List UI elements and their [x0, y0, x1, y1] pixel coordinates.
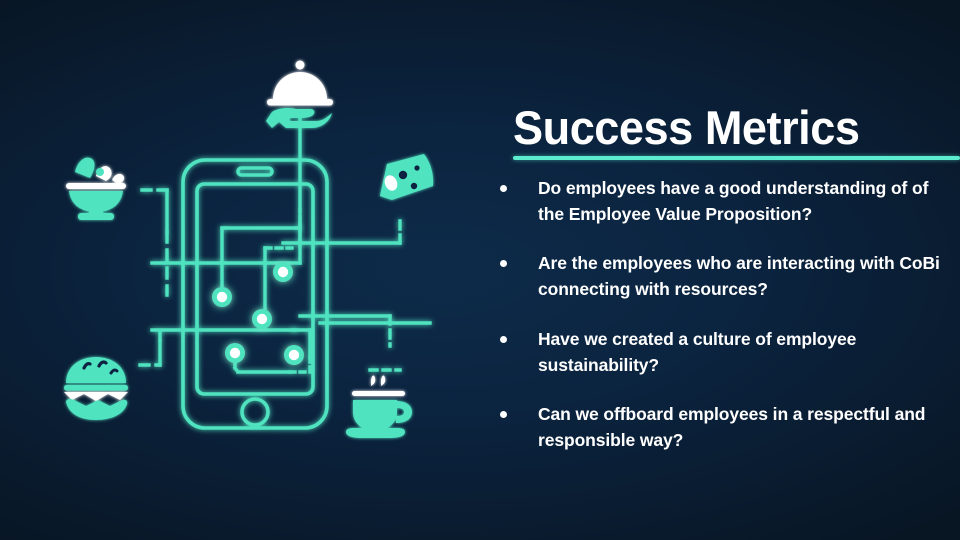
illustration-panel: [0, 0, 480, 540]
circuit-nodes: [212, 262, 304, 365]
circuit-node: [252, 309, 272, 329]
list-item: Are the employees who are interacting wi…: [480, 251, 960, 302]
bullet-dot-icon: [500, 336, 507, 343]
list-item-label: Have we created a culture of employee su…: [538, 327, 952, 378]
slide-canvas: Success Metrics Do employees have a good…: [0, 0, 960, 540]
title-underline-rule: [513, 156, 960, 160]
list-item: Can we offboard employees in a respectfu…: [480, 402, 960, 453]
smartphone-icon: [183, 160, 327, 428]
hamburger-icon: [64, 357, 128, 420]
list-item-label: Can we offboard employees in a respectfu…: [538, 402, 952, 453]
circuit-node: [273, 262, 293, 282]
circuit-node: [284, 345, 304, 365]
list-item: Have we created a culture of employee su…: [480, 327, 960, 378]
pizza-slice-icon: [380, 154, 433, 200]
list-item-label: Are the employees who are interacting wi…: [538, 251, 952, 302]
title-block: Success Metrics: [513, 104, 960, 151]
hand-icon: [266, 108, 332, 128]
coffee-cup-icon: [346, 375, 412, 438]
page-title: Success Metrics: [513, 104, 942, 151]
bullet-dot-icon: [500, 411, 507, 418]
list-item: Do employees have a good understanding o…: [480, 176, 960, 227]
list-item-label: Do employees have a good understanding o…: [538, 176, 952, 227]
cloche-serving-dome-icon: [266, 61, 333, 129]
phone-outer-frame: [183, 160, 327, 428]
bullet-list: Do employees have a good understanding o…: [480, 176, 960, 478]
bullet-dot-icon: [500, 185, 507, 192]
salad-bowl-icon: [66, 158, 126, 220]
phone-home-button: [242, 399, 268, 425]
circuit-node: [212, 287, 232, 307]
bullet-dot-icon: [500, 260, 507, 267]
circuit-phone-illustration: [0, 0, 480, 540]
content-panel: Success Metrics Do employees have a good…: [480, 0, 960, 540]
circuit-node: [225, 343, 245, 363]
phone-speaker-slot: [238, 168, 272, 175]
